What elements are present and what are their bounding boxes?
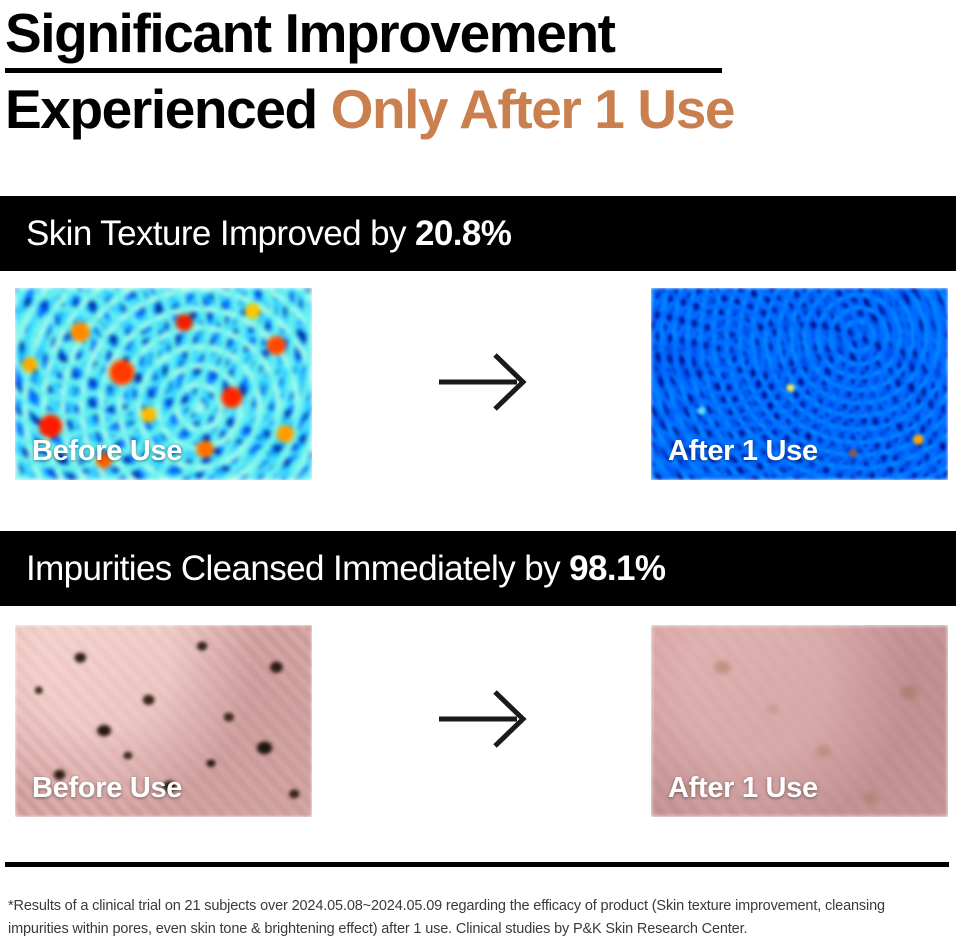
headline-accent-text: Only After 1 Use: [331, 78, 734, 140]
headline-plain-text: Experienced: [5, 78, 331, 140]
footer-divider: [5, 862, 949, 867]
after-image-panel-pores: After 1 Use: [651, 625, 948, 817]
headline-line-1: Significant Improvement: [5, 2, 951, 64]
before-image-panel-texture: Before Use: [15, 288, 312, 480]
stat-label: Impurities Cleansed Immediately by: [26, 549, 569, 588]
stat-value: 20.8%: [415, 214, 511, 253]
arrow-right-icon: [437, 351, 529, 413]
comparison-row-impurities: Before Use After 1 Use: [0, 625, 956, 817]
stat-value: 98.1%: [569, 549, 665, 588]
stat-banner-text: Impurities Cleansed Immediately by 98.1%: [0, 549, 665, 589]
after-image-label: After 1 Use: [668, 435, 818, 468]
after-image-panel-texture: After 1 Use: [651, 288, 948, 480]
after-image-label: After 1 Use: [668, 772, 818, 805]
comparison-row-skin-texture: Before Use After 1 Use: [0, 288, 956, 480]
infographic-page: Significant Improvement Experienced Only…: [0, 0, 956, 940]
before-image-label: Before Use: [32, 435, 182, 468]
stat-banner-text: Skin Texture Improved by 20.8%: [0, 214, 511, 254]
headline-underline: [5, 68, 722, 73]
footnote-text: *Results of a clinical trial on 21 subje…: [8, 895, 948, 940]
arrow-right-icon: [437, 688, 529, 750]
stat-banner-skin-texture: Skin Texture Improved by 20.8%: [0, 196, 956, 271]
headline-block: Significant Improvement Experienced Only…: [5, 2, 951, 141]
stat-banner-impurities: Impurities Cleansed Immediately by 98.1%: [0, 531, 956, 606]
before-image-panel-pores: Before Use: [15, 625, 312, 817]
stat-label: Skin Texture Improved by: [26, 214, 415, 253]
headline-line-2: Experienced Only After 1 Use: [5, 77, 951, 141]
before-image-label: Before Use: [32, 772, 182, 805]
